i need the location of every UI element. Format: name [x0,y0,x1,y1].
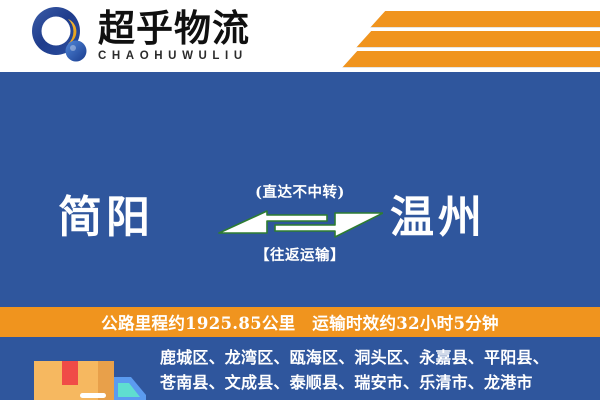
header-stripe-2 [357,31,600,47]
distance-duration-text: 公路里程约1925.85公里 运输时效约32小时5分钟 [101,310,499,334]
coverage-line-1: 鹿城区、龙湾区、瓯海区、洞头区、永嘉县、平阳县、 [160,345,592,370]
banner-header: 超乎物流 CHAOHUWULIU [0,0,600,72]
destination-city-label: 温州 [390,196,486,240]
brand-name-en: CHAOHUWULIU [98,49,250,63]
brand-text-block: 超乎物流 CHAOHUWULIU [98,6,250,63]
logistics-route-banner: 超乎物流 CHAOHUWULIU 简阳 (直达不中转) [0,0,600,400]
header-stripe-3 [343,51,600,67]
header-stripe-1 [371,11,600,27]
brand-name-cn: 超乎物流 [98,8,250,48]
origin-city-label: 简阳 [58,196,154,240]
coverage-line-2: 苍南县、文成县、泰顺县、瑞安市、乐清市、龙港市 [160,370,592,395]
route-row: 简阳 (直达不中转) 【往返运输】 温州 [0,72,600,230]
crescent-circle-logo-icon [30,6,92,64]
distance-duration-bar: 公路里程约1925.85公里 运输时效约32小时5分钟 [0,307,600,337]
route-note-roundtrip: 【往返运输】 [205,247,395,265]
coverage-district-list: 鹿城区、龙湾区、瓯海区、洞头区、永嘉县、平阳县、 苍南县、文成县、泰顺县、瑞安市… [160,345,592,395]
coverage-area-section: 鹿城区、龙湾区、瓯海区、洞头区、永嘉县、平阳县、 苍南县、文成县、泰顺县、瑞安市… [0,337,600,400]
double-headed-arrow-icon [205,209,395,241]
brand-logo-group: 超乎物流 CHAOHUWULIU [30,6,250,64]
banner-body-panel: 简阳 (直达不中转) 【往返运输】 温州 公路里程约1925.85公里 运输时效… [0,72,600,400]
delivery-truck-icon [28,347,152,400]
route-note-direct: (直达不中转) [205,184,395,202]
route-middle-group: (直达不中转) 【往返运输】 [205,184,395,265]
